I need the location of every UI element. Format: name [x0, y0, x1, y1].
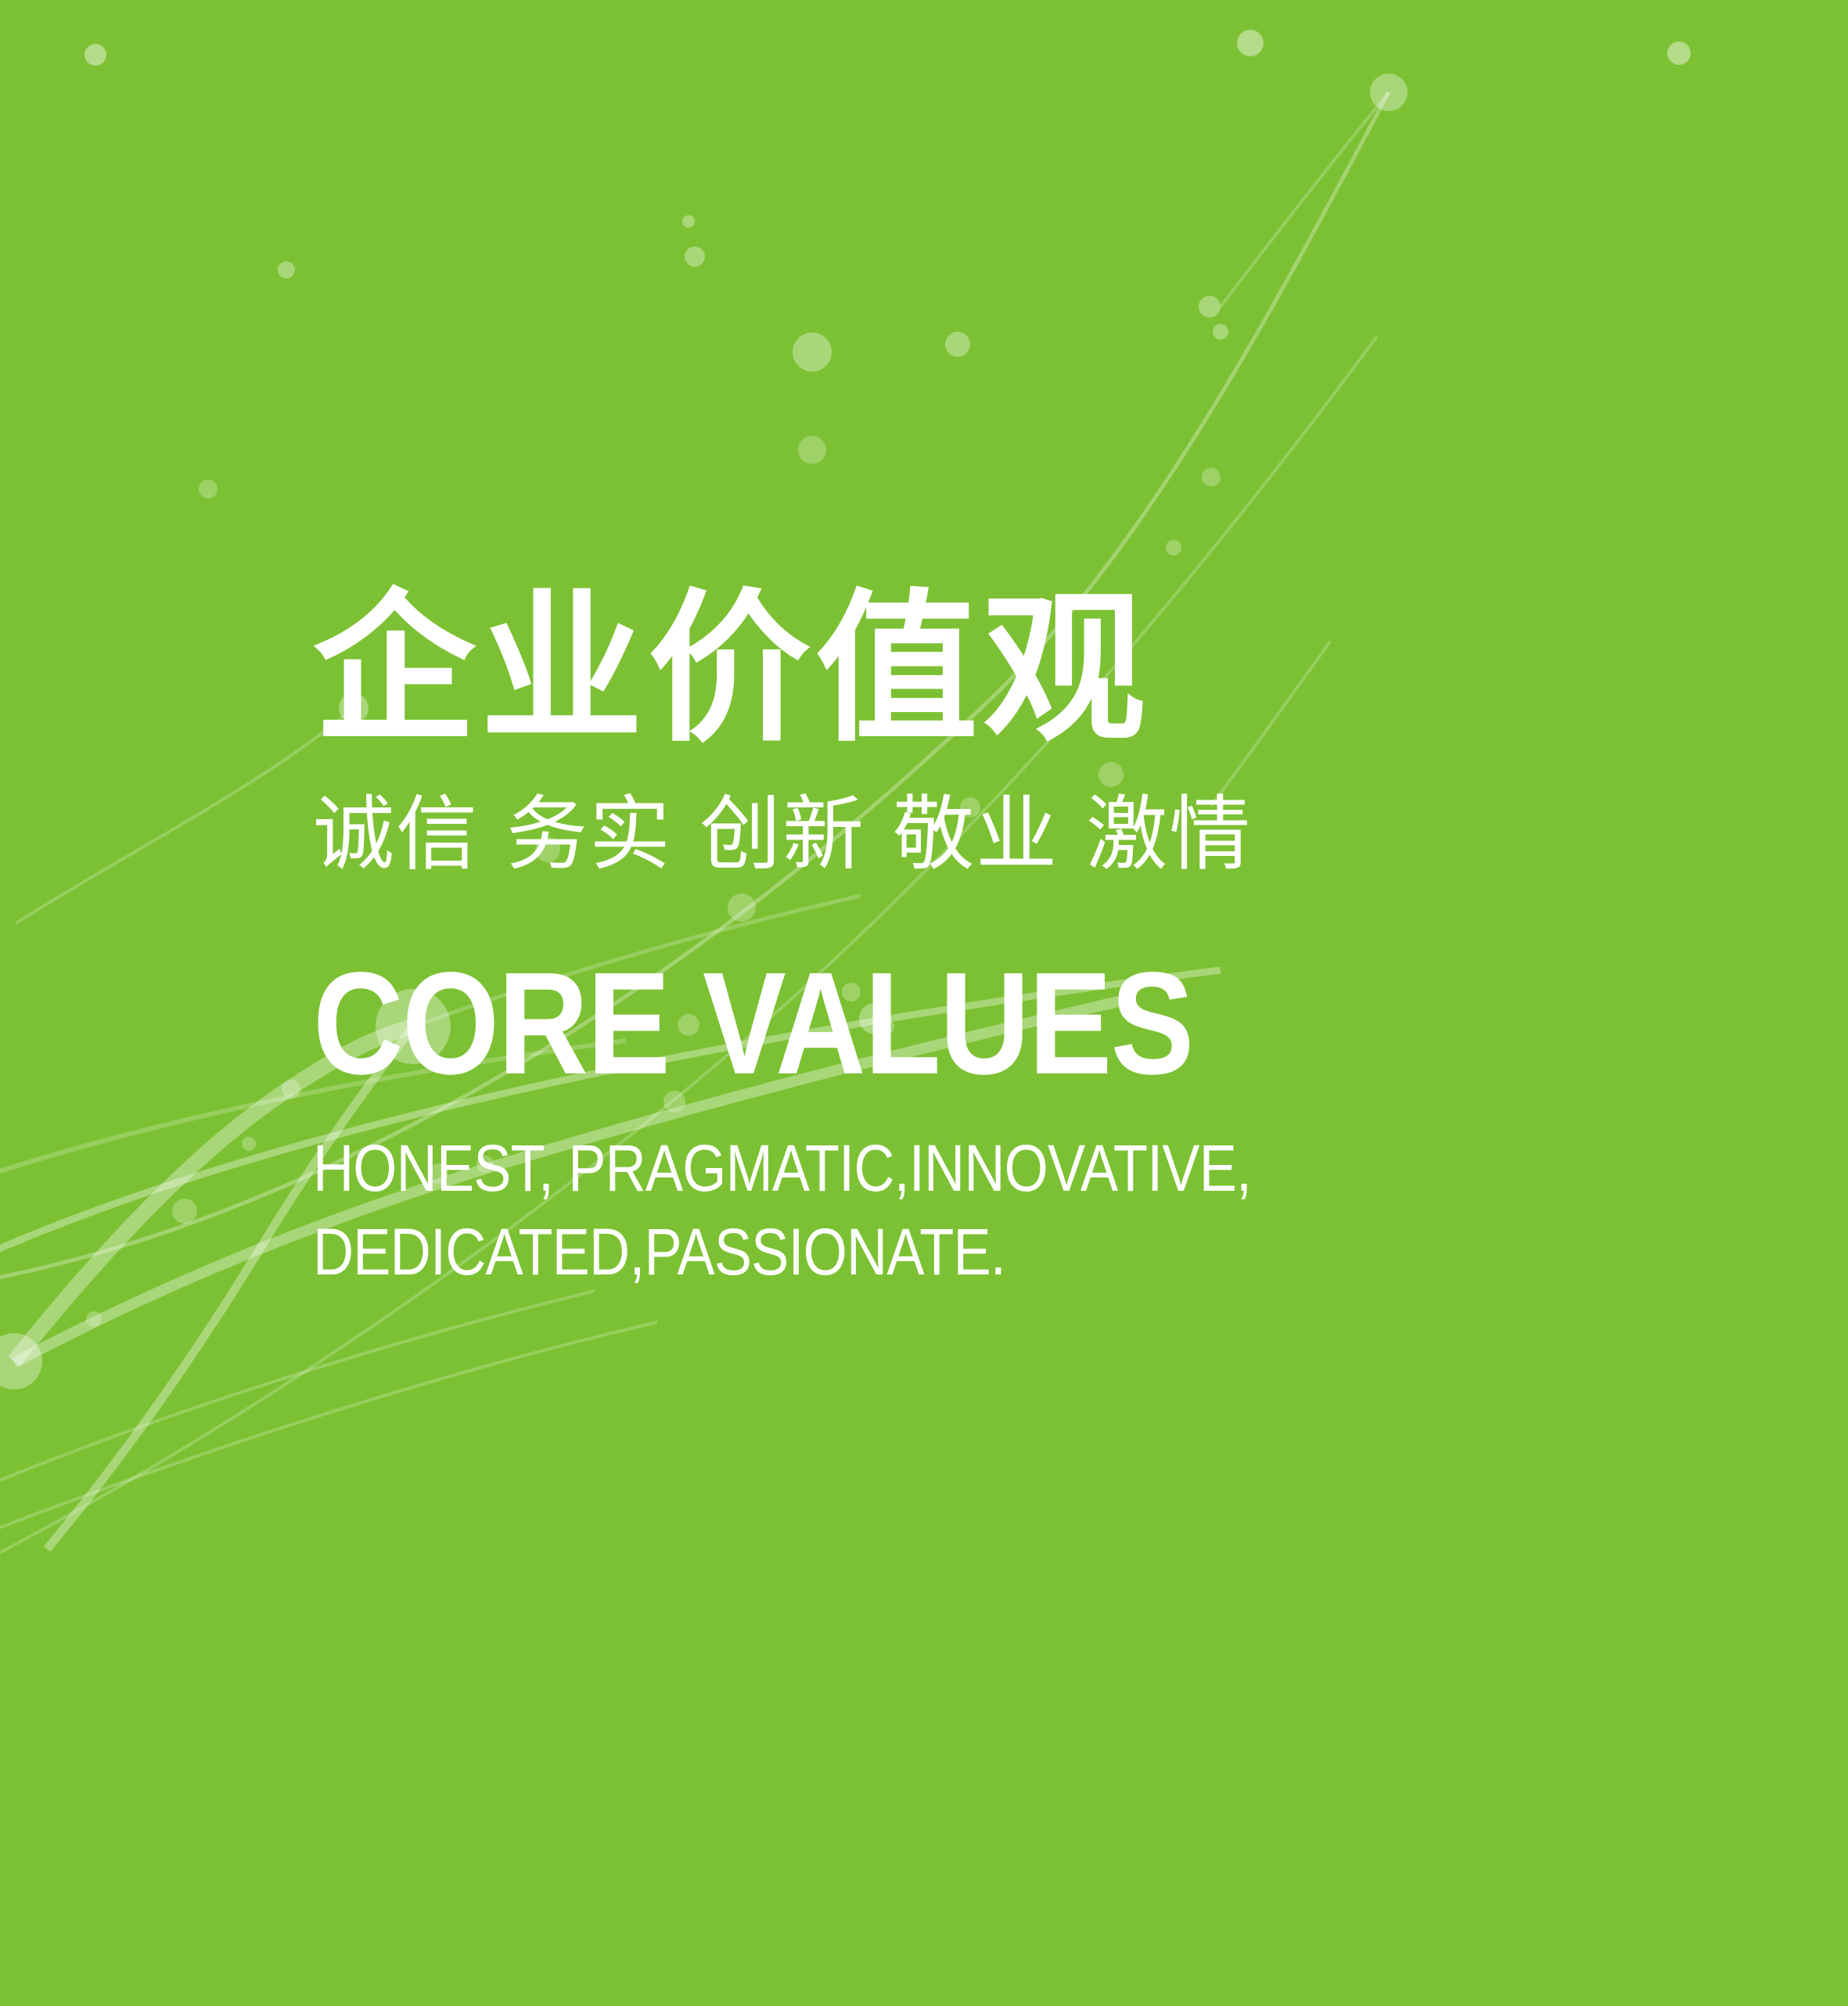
english-body-line-2: DEDICATED,PASSIONATE. — [313, 1210, 1524, 1295]
english-title: CORE VALUES — [313, 951, 1524, 1097]
core-values-poster: .ln { fill:none; stroke:#ffffff; stroke-… — [0, 0, 1848, 2006]
poster-text-block: 企业价值观 诚信 务实 创新 敬业 激情 CORE VALUES HONEST,… — [313, 579, 1721, 1295]
chinese-title: 企业价值观 — [313, 579, 1721, 761]
english-body: HONEST, PRAGMATIC,INNOVATIVE, DEDICATED,… — [313, 1127, 1524, 1295]
english-body-line-1: HONEST, PRAGMATIC,INNOVATIVE, — [313, 1127, 1524, 1211]
chinese-subtitle: 诚信 务实 创新 敬业 激情 — [313, 785, 1721, 884]
